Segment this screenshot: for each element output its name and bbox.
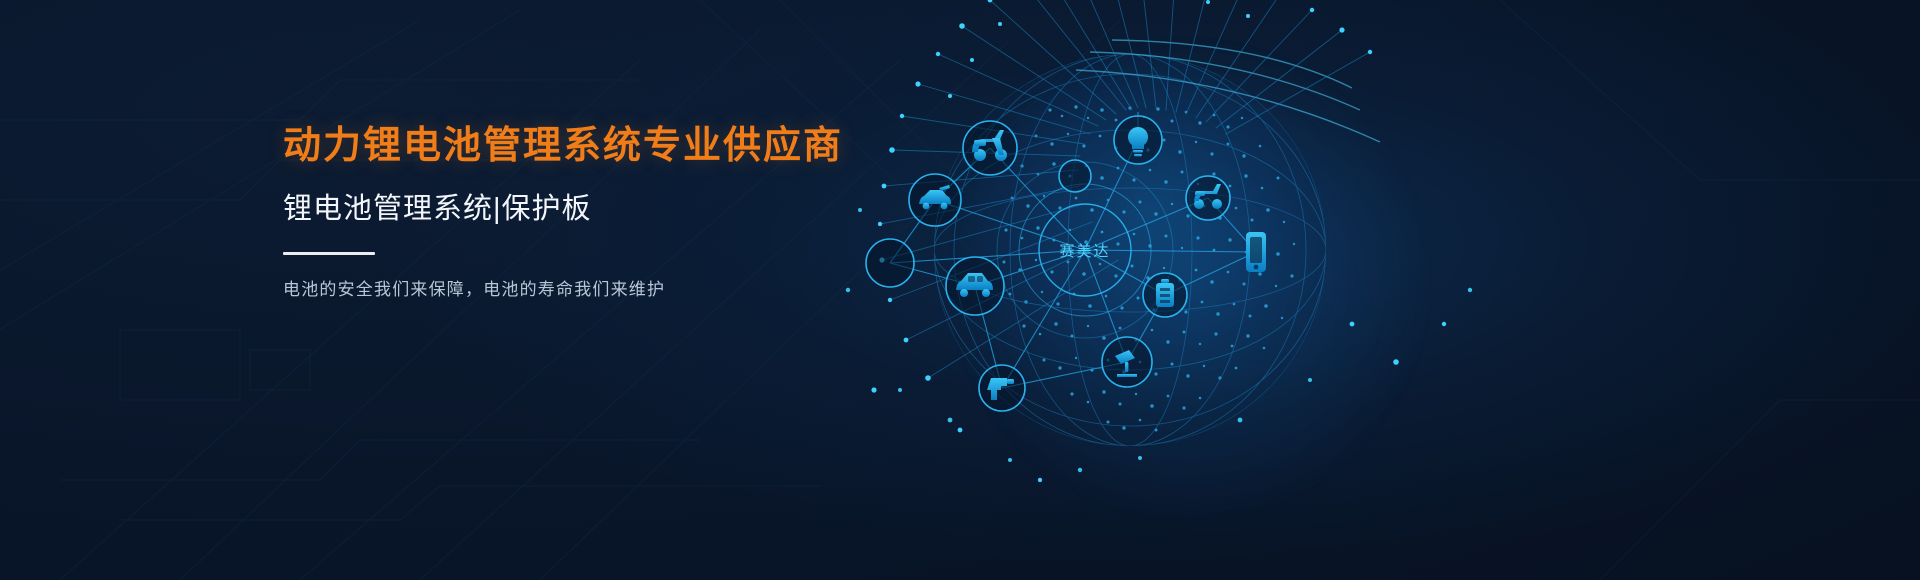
globe-network-illustration: 赛美达 [840, 0, 1540, 580]
globe-network-svg: 赛美达 [840, 0, 1540, 580]
node-ebike [1186, 176, 1230, 220]
node-car-small [909, 174, 961, 226]
node-battery-pack [1143, 273, 1187, 317]
node-scooter [963, 121, 1017, 175]
node-power-drill [979, 365, 1025, 411]
title-divider [283, 252, 375, 255]
hero-copy: 动力锂电池管理系统专业供应商 锂电池管理系统|保护板 电池的安全我们来保障，电池… [283, 124, 923, 303]
node-desk-lamp [1102, 337, 1152, 387]
node-empty-left [866, 239, 914, 287]
hero-tagline: 电池的安全我们来保障，电池的寿命我们来维护 [283, 277, 923, 303]
brand-hub-label: 赛美达 [1059, 243, 1110, 260]
hero-banner: 动力锂电池管理系统专业供应商 锂电池管理系统|保护板 电池的安全我们来保障，电池… [0, 0, 1920, 580]
node-car-large [946, 257, 1004, 315]
node-empty-upper [1059, 160, 1091, 192]
node-battery-phone [1246, 232, 1266, 272]
hero-subtitle: 锂电池管理系统|保护板 [283, 192, 923, 227]
page-title: 动力锂电池管理系统专业供应商 [283, 124, 923, 170]
node-lightbulb [1114, 116, 1162, 164]
